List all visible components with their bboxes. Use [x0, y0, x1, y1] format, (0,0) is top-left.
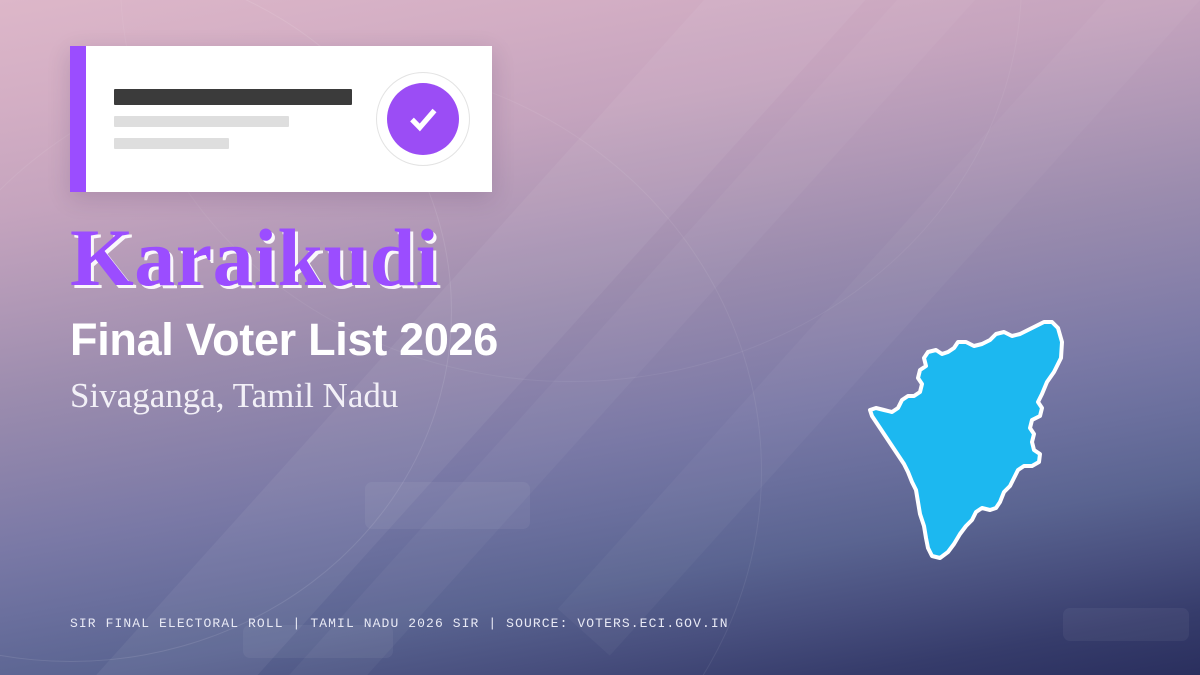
card-placeholder-lines	[114, 89, 376, 149]
placeholder-heading-bar	[114, 89, 352, 105]
headline-stack: Karaikudi Final Voter List 2026 Sivagang…	[70, 218, 770, 414]
check-circle-icon	[387, 83, 459, 155]
page-location: Sivaganga, Tamil Nadu	[70, 378, 770, 415]
decor-rect-1	[365, 482, 530, 529]
tamil-nadu-map-icon	[862, 316, 1076, 566]
card-accent-bar	[70, 46, 86, 192]
page-title: Karaikudi	[70, 218, 770, 298]
verified-badge-ring	[376, 72, 470, 166]
card-body	[86, 46, 492, 192]
placeholder-text-bar-short	[114, 138, 229, 149]
document-card	[70, 46, 492, 192]
placeholder-text-bar-long	[114, 116, 289, 127]
footer-source-line: SIR FINAL ELECTORAL ROLL | TAMIL NADU 20…	[70, 616, 729, 631]
page-subtitle: Final Voter List 2026	[70, 316, 770, 363]
poster-canvas: Karaikudi Final Voter List 2026 Sivagang…	[0, 0, 1200, 675]
decor-rect-3	[1063, 608, 1189, 641]
